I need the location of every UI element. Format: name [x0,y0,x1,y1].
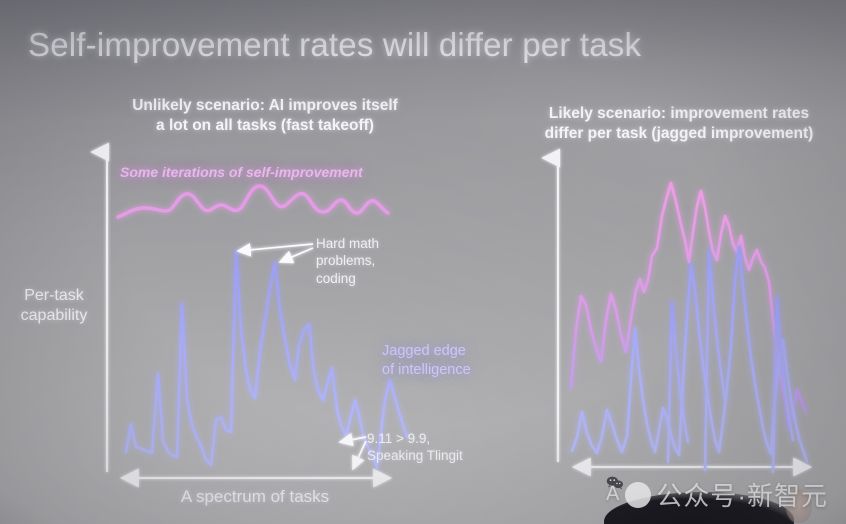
annotation-hard-math-line3: coding [316,270,408,287]
annotation-jagged-edge: Jagged edge of intelligence [382,342,500,380]
right-baseline-line [572,247,807,462]
left-panel-heading-line2: a lot on all tasks (fast takeoff) [95,116,435,136]
annotation-tlingit: 9.11 > 9.9, Speaking Tlingit [367,430,487,465]
right-panel-heading: Likely scenario: improvement rates diffe… [514,104,844,145]
y-axis-label: Per-task capability [4,286,104,327]
tlingit-arrows [340,437,366,469]
hard-math-arrows [238,244,313,262]
annotation-self-improvement-iterations: Some iterations of self-improvement [120,164,363,180]
pink-self-improvement-wave [118,186,388,217]
left-panel-heading-line1: Unlikely scenario: AI improves itself [95,96,435,116]
left-panel-heading: Unlikely scenario: AI improves itself a … [95,96,435,137]
right-panel-heading-line1: Likely scenario: improvement rates [514,104,844,124]
annotation-tlingit-line1: 9.11 > 9.9, [367,430,487,447]
annotation-hard-math-line2: problems, [316,252,408,269]
page-title: Self-improvement rates will differ per t… [28,26,641,64]
annotation-hard-math: Hard math problems, coding [316,235,408,287]
slide-screenshot: Self-improvement rates will differ per t… [0,0,846,524]
annotation-hard-math-line1: Hard math [316,235,408,252]
annotation-tlingit-line2: Speaking Tlingit [367,447,487,464]
x-axis-label: A spectrum of tasks [110,487,400,507]
annotation-jagged-edge-line1: Jagged edge [382,342,500,361]
y-axis-label-line2: capability [4,306,104,326]
y-axis-label-line1: Per-task [4,286,104,306]
annotation-jagged-edge-line2: of intelligence [382,361,500,380]
right-panel-heading-line2: differ per task (jagged improvement) [514,124,844,144]
